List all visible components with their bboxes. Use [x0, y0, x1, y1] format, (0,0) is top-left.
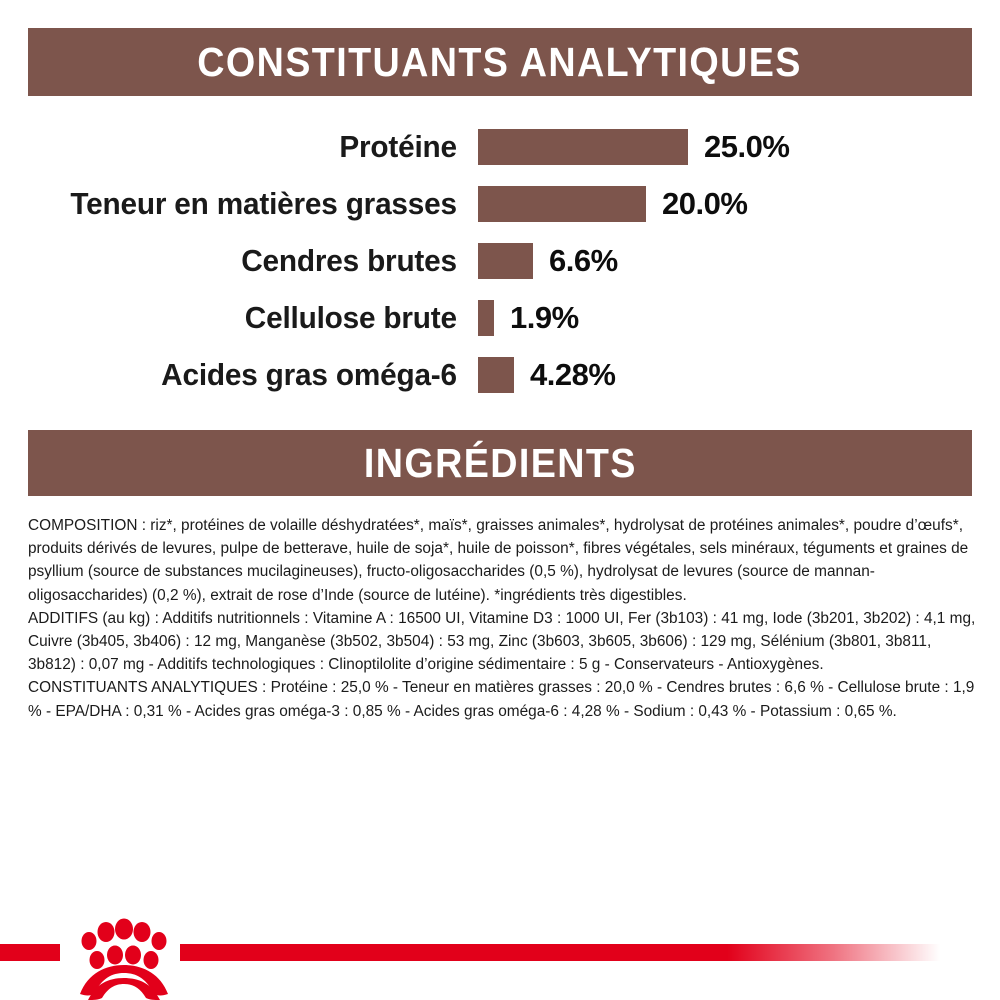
- ingredients-body-text: COMPOSITION : riz*, protéines de volaill…: [28, 514, 976, 723]
- chart-bar: [478, 129, 688, 165]
- analytical-constituents-header: CONSTITUANTS ANALYTIQUES: [28, 28, 972, 96]
- chart-bar: [478, 300, 494, 336]
- chart-row: Acides gras oméga-64.28%: [0, 346, 1000, 403]
- chart-value-label: 20.0%: [646, 186, 747, 222]
- ingredients-paragraph: ADDITIFS (au kg) : Additifs nutritionnel…: [28, 607, 976, 677]
- chart-bar: [478, 357, 514, 393]
- chart-row: Protéine25.0%: [0, 118, 1000, 175]
- chart-row: Cendres brutes6.6%: [0, 232, 1000, 289]
- royal-canin-crown-logo-icon: [66, 918, 182, 1000]
- ingredients-paragraph: COMPOSITION : riz*, protéines de volaill…: [28, 514, 976, 607]
- analytical-constituents-title: CONSTITUANTS ANALYTIQUES: [198, 42, 803, 83]
- chart-bar: [478, 243, 533, 279]
- footer: [0, 918, 1000, 1000]
- chart-value-label: 4.28%: [514, 357, 615, 393]
- ingredients-title: INGRÉDIENTS: [364, 443, 637, 484]
- footer-red-bar-left: [0, 944, 60, 961]
- chart-row: Teneur en matières grasses20.0%: [0, 175, 1000, 232]
- chart-value-label: 25.0%: [688, 129, 789, 165]
- ingredients-header: INGRÉDIENTS: [28, 430, 972, 496]
- footer-red-bar-right: [180, 944, 940, 961]
- chart-row: Cellulose brute1.9%: [0, 289, 1000, 346]
- ingredients-paragraph: CONSTITUANTS ANALYTIQUES : Protéine : 25…: [28, 676, 976, 722]
- product-label-page: CONSTITUANTS ANALYTIQUES Protéine25.0%Te…: [0, 0, 1000, 1000]
- chart-value-label: 6.6%: [533, 243, 618, 279]
- analytical-constituents-chart: Protéine25.0%Teneur en matières grasses2…: [0, 118, 1000, 408]
- chart-row-label: Protéine: [19, 129, 478, 165]
- chart-bar: [478, 186, 646, 222]
- chart-value-label: 1.9%: [494, 300, 579, 336]
- chart-row-label: Acides gras oméga-6: [19, 357, 478, 393]
- chart-row-label: Cendres brutes: [19, 243, 478, 279]
- chart-row-label: Teneur en matières grasses: [19, 186, 478, 222]
- chart-row-label: Cellulose brute: [19, 300, 478, 336]
